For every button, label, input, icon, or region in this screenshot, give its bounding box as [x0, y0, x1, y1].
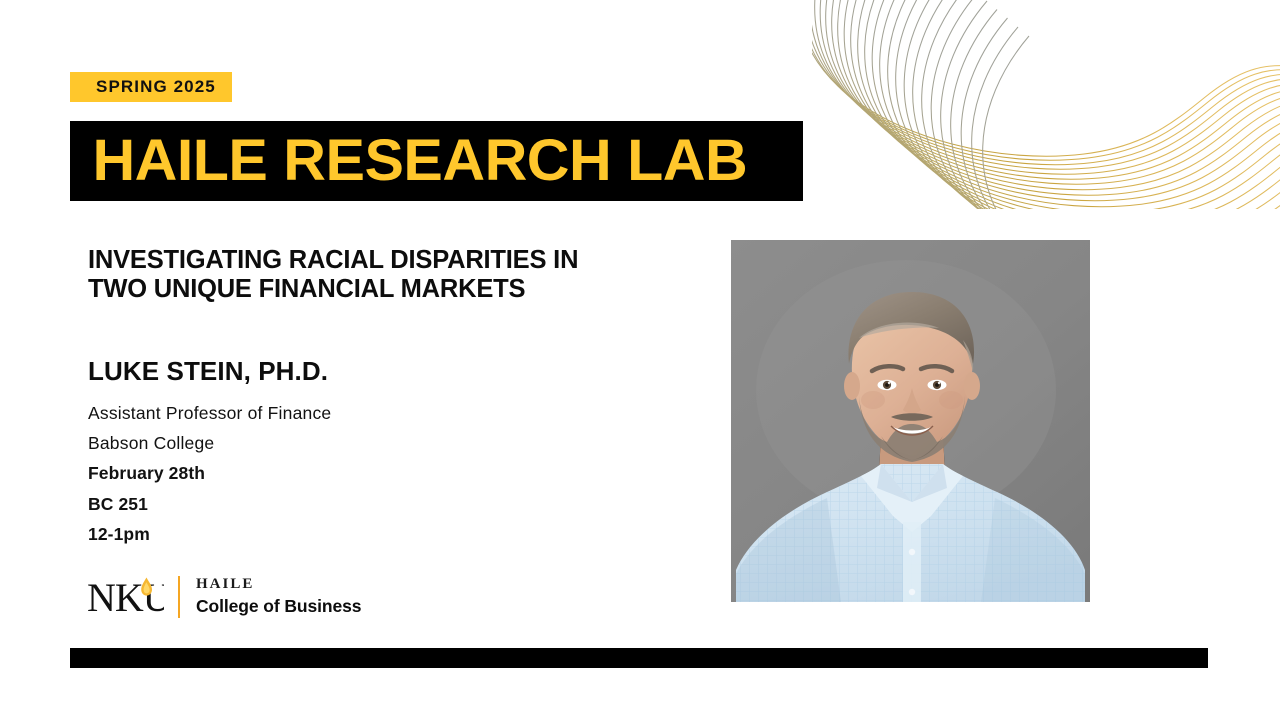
- nku-wordmark: NKU: [88, 575, 164, 619]
- speaker-name: LUKE STEIN, PH.D.: [88, 357, 688, 386]
- nku-haile-logo: NKU HAILE College of Business: [88, 570, 361, 624]
- poster-content: INVESTIGATING RACIAL DISPARITIES IN TWO …: [88, 246, 688, 549]
- speaker-affiliation: Babson College: [88, 428, 688, 458]
- event-date: February 28th: [88, 458, 688, 488]
- logo-divider: [178, 576, 180, 618]
- season-badge: SPRING 2025: [70, 72, 232, 102]
- logo-unit-line-2: College of Business: [196, 596, 361, 618]
- event-location: BC 251: [88, 489, 688, 519]
- talk-details: Assistant Professor of Finance Babson Co…: [88, 398, 688, 549]
- event-time: 12-1pm: [88, 519, 688, 549]
- series-title: HAILE RESEARCH LAB: [70, 132, 747, 190]
- talk-title: INVESTIGATING RACIAL DISPARITIES IN TWO …: [88, 246, 688, 304]
- contour-lines-pattern: [812, 0, 1280, 209]
- footer-bar: [70, 648, 1208, 668]
- season-badge-label: SPRING 2025: [96, 77, 216, 97]
- series-title-bar: HAILE RESEARCH LAB: [70, 121, 803, 201]
- logo-unit-line-1: HAILE: [196, 576, 361, 593]
- speaker-title: Assistant Professor of Finance: [88, 398, 688, 428]
- logo-unit-lockup: HAILE College of Business: [196, 576, 361, 617]
- speaker-portrait: [731, 240, 1090, 602]
- svg-text:NKU: NKU: [88, 575, 164, 619]
